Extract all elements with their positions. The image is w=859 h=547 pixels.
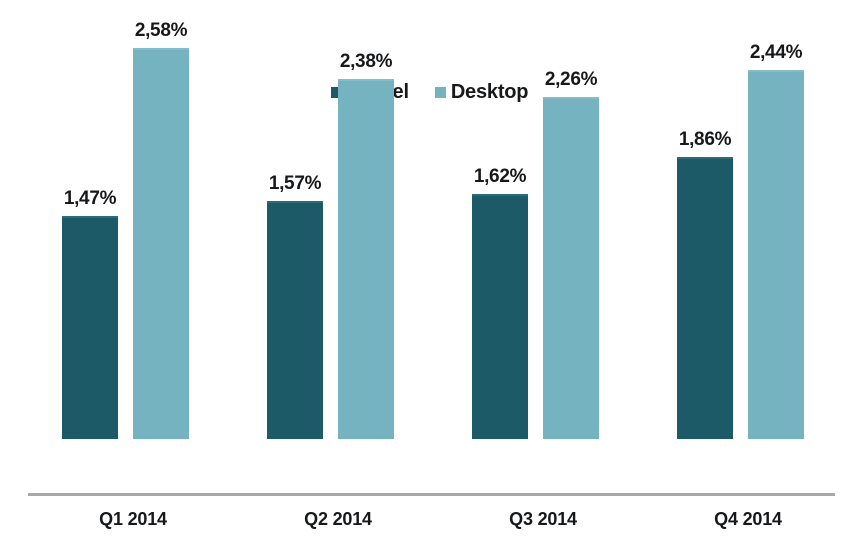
bar-value-label-q1-desktop: 2,58% [119, 20, 203, 42]
bar-q3-mobiel[interactable] [472, 194, 528, 439]
x-axis-baseline [28, 493, 835, 496]
bar-chart: Mobiel Desktop 1,47% 2,58% 1,57% 2,38% [0, 0, 859, 547]
bar-value-label-q1-mobiel: 1,47% [48, 188, 132, 210]
bar-value-label-q3-desktop: 2,26% [529, 69, 613, 91]
bar-value-label-q3-mobiel: 1,62% [458, 166, 542, 188]
bar-q3-desktop[interactable] [543, 97, 599, 439]
bar-q4-desktop[interactable] [748, 70, 804, 439]
plot-area: 1,47% 2,58% 1,57% 2,38% 1,62% [0, 0, 859, 493]
x-axis-label-q3: Q3 2014 [443, 509, 643, 530]
bar-value-label-q4-mobiel: 1,86% [663, 129, 747, 151]
bar-value-label-q2-desktop: 2,38% [324, 51, 408, 73]
bar-value-label-q4-desktop: 2,44% [734, 42, 818, 64]
bar-q1-desktop[interactable] [133, 48, 189, 439]
bar-q1-mobiel[interactable] [62, 216, 118, 439]
x-axis-label-q2: Q2 2014 [238, 509, 438, 530]
x-axis-label-q1: Q1 2014 [33, 509, 233, 530]
x-axis-label-q4: Q4 2014 [648, 509, 848, 530]
bar-q2-mobiel[interactable] [267, 201, 323, 439]
bar-value-label-q2-mobiel: 1,57% [253, 173, 337, 195]
bar-q2-desktop[interactable] [338, 79, 394, 439]
bar-q4-mobiel[interactable] [677, 157, 733, 439]
